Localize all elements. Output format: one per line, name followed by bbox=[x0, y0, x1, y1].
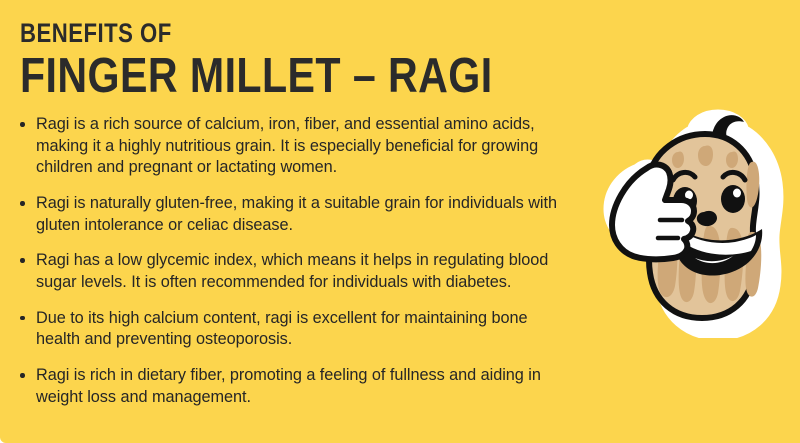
list-item: Ragi is rich in dietary fiber, promoting… bbox=[18, 365, 563, 408]
list-item: Ragi has a low glycemic index, which mea… bbox=[18, 250, 563, 293]
peanut-mascot-illustration bbox=[600, 108, 800, 338]
list-item-text: Ragi is rich in dietary fiber, promoting… bbox=[36, 366, 541, 406]
bullet-dot-icon bbox=[20, 373, 25, 378]
infographic-canvas: BENEFITS OF FINGER MILLET – RAGI Ragi is… bbox=[0, 0, 800, 443]
bullet-dot-icon bbox=[20, 316, 25, 321]
list-item-text: Ragi has a low glycemic index, which mea… bbox=[36, 251, 548, 291]
list-item: Ragi is naturally gluten-free, making it… bbox=[18, 193, 563, 236]
list-item: Due to its high calcium content, ragi is… bbox=[18, 308, 563, 351]
benefits-list: Ragi is a rich source of calcium, iron, … bbox=[18, 114, 563, 408]
heading-kicker: BENEFITS OF bbox=[20, 20, 479, 47]
bullet-dot-icon bbox=[20, 122, 25, 127]
list-item: Ragi is a rich source of calcium, iron, … bbox=[18, 114, 563, 179]
list-item-text: Due to its high calcium content, ragi is… bbox=[36, 309, 528, 349]
bullet-dot-icon bbox=[20, 258, 25, 263]
heading-block: BENEFITS OF FINGER MILLET – RAGI bbox=[20, 20, 580, 102]
bullet-dot-icon bbox=[20, 201, 25, 206]
page-title: FINGER MILLET – RAGI bbox=[20, 52, 490, 102]
list-item-text: Ragi is naturally gluten-free, making it… bbox=[36, 194, 557, 234]
list-item-text: Ragi is a rich source of calcium, iron, … bbox=[36, 115, 538, 176]
